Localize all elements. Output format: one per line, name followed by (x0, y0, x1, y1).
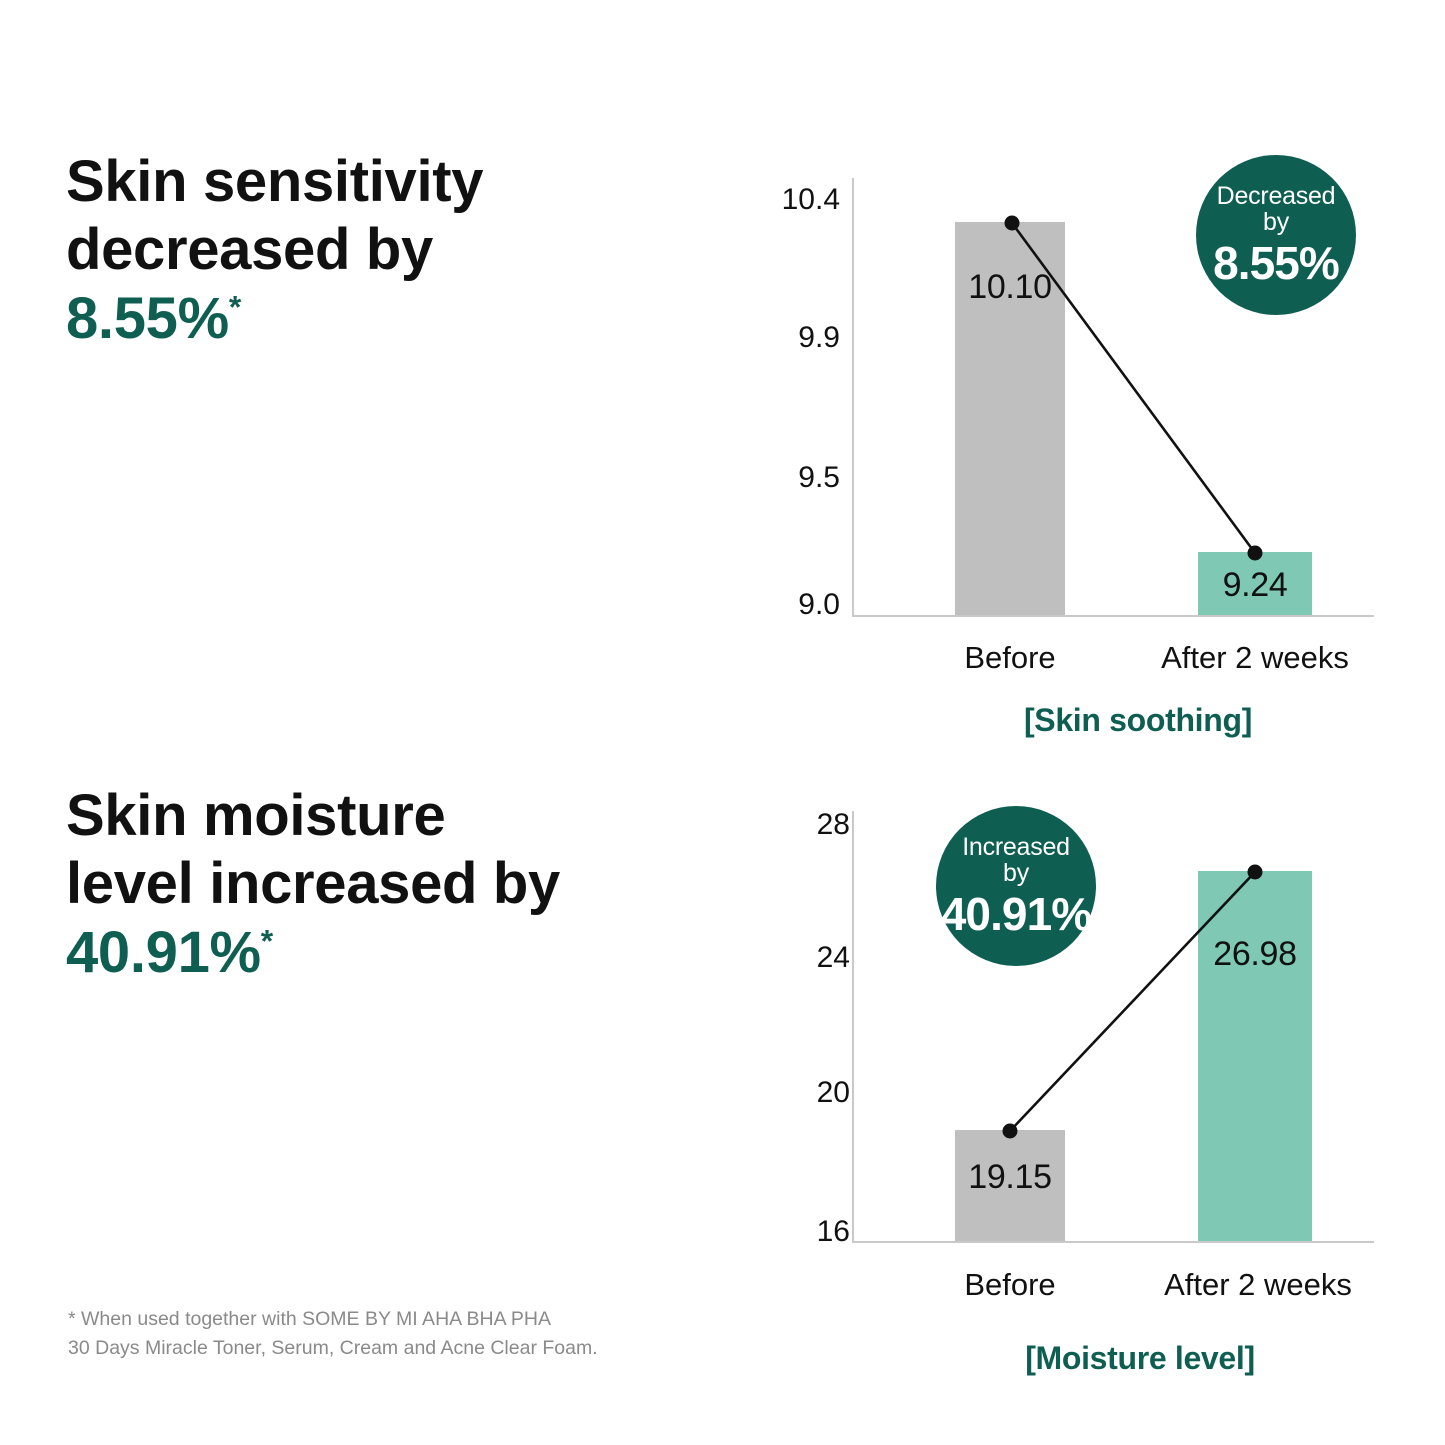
chart-1-bar-after: 9.24 (1198, 552, 1312, 615)
headline-1-percent-value: 8.55% (66, 286, 229, 351)
chart-2-ytick-1: 24 (770, 941, 850, 975)
badge-2-top-label: Increased (962, 834, 1070, 860)
chart-1-ytick-2: 9.5 (760, 461, 840, 495)
chart-2-xlabel-after: After 2 weeks (1164, 1267, 1352, 1303)
chart-2-ytick-2: 20 (770, 1076, 850, 1110)
chart-1-ytick-0: 10.4 (760, 183, 840, 217)
chart-1-xlabel-before: Before (964, 640, 1055, 676)
chart-1-x-axis (852, 615, 1374, 617)
headline-2-line-1: Skin moisture (66, 782, 560, 850)
chart-1-bar-before-value: 10.10 (955, 268, 1065, 307)
headline-skin-sensitivity: Skin sensitivity decreased by 8.55%* (66, 148, 483, 353)
headline-1-percent: 8.55%* (66, 285, 483, 353)
infographic-page: Skin sensitivity decreased by 8.55%* Ski… (0, 0, 1445, 1445)
chart-2-bar-after-value: 26.98 (1198, 935, 1312, 974)
caption-skin-soothing: [Skin soothing] (1024, 702, 1252, 739)
chart-2-bar-before-value: 19.15 (955, 1158, 1065, 1197)
caption-moisture-level: [Moisture level] (1025, 1340, 1255, 1377)
badge-decreased-by: Decreased by 8.55% (1196, 155, 1356, 315)
headline-2-asterisk: * (261, 923, 273, 959)
headline-1-asterisk: * (229, 289, 241, 325)
badge-1-mid-label: by (1263, 209, 1289, 235)
headline-2-line-2: level increased by (66, 850, 560, 918)
headline-1-line-1: Skin sensitivity (66, 148, 483, 216)
badge-2-percent: 40.91% (941, 890, 1092, 938)
chart-1-xlabel-after: After 2 weeks (1161, 640, 1349, 676)
headline-2-percent: 40.91%* (66, 919, 560, 987)
headline-1-line-2: decreased by (66, 216, 483, 284)
chart-1-y-axis (852, 178, 854, 615)
chart-2-bar-before: 19.15 (955, 1130, 1065, 1241)
chart-1-ytick-3: 9.0 (760, 588, 840, 622)
chart-2-y-axis (852, 811, 854, 1241)
headline-skin-moisture: Skin moisture level increased by 40.91%* (66, 782, 560, 987)
chart-1-ytick-1: 9.9 (760, 321, 840, 355)
badge-2-mid-label: by (1003, 860, 1029, 886)
footnote-text: * When used together with SOME BY MI AHA… (68, 1305, 598, 1364)
chart-2-xlabel-before: Before (964, 1267, 1055, 1303)
chart-2-ytick-3: 16 (770, 1215, 850, 1249)
chart-2-bar-after: 26.98 (1198, 871, 1312, 1241)
chart-2-ytick-0: 28 (770, 808, 850, 842)
headline-2-percent-value: 40.91% (66, 920, 261, 985)
badge-increased-by: Increased by 40.91% (936, 806, 1096, 966)
chart-1-bar-after-value: 9.24 (1198, 566, 1312, 605)
chart-1-bar-before: 10.10 (955, 222, 1065, 615)
badge-1-top-label: Decreased (1217, 183, 1336, 209)
chart-2-x-axis (852, 1241, 1374, 1243)
badge-1-percent: 8.55% (1213, 239, 1339, 287)
